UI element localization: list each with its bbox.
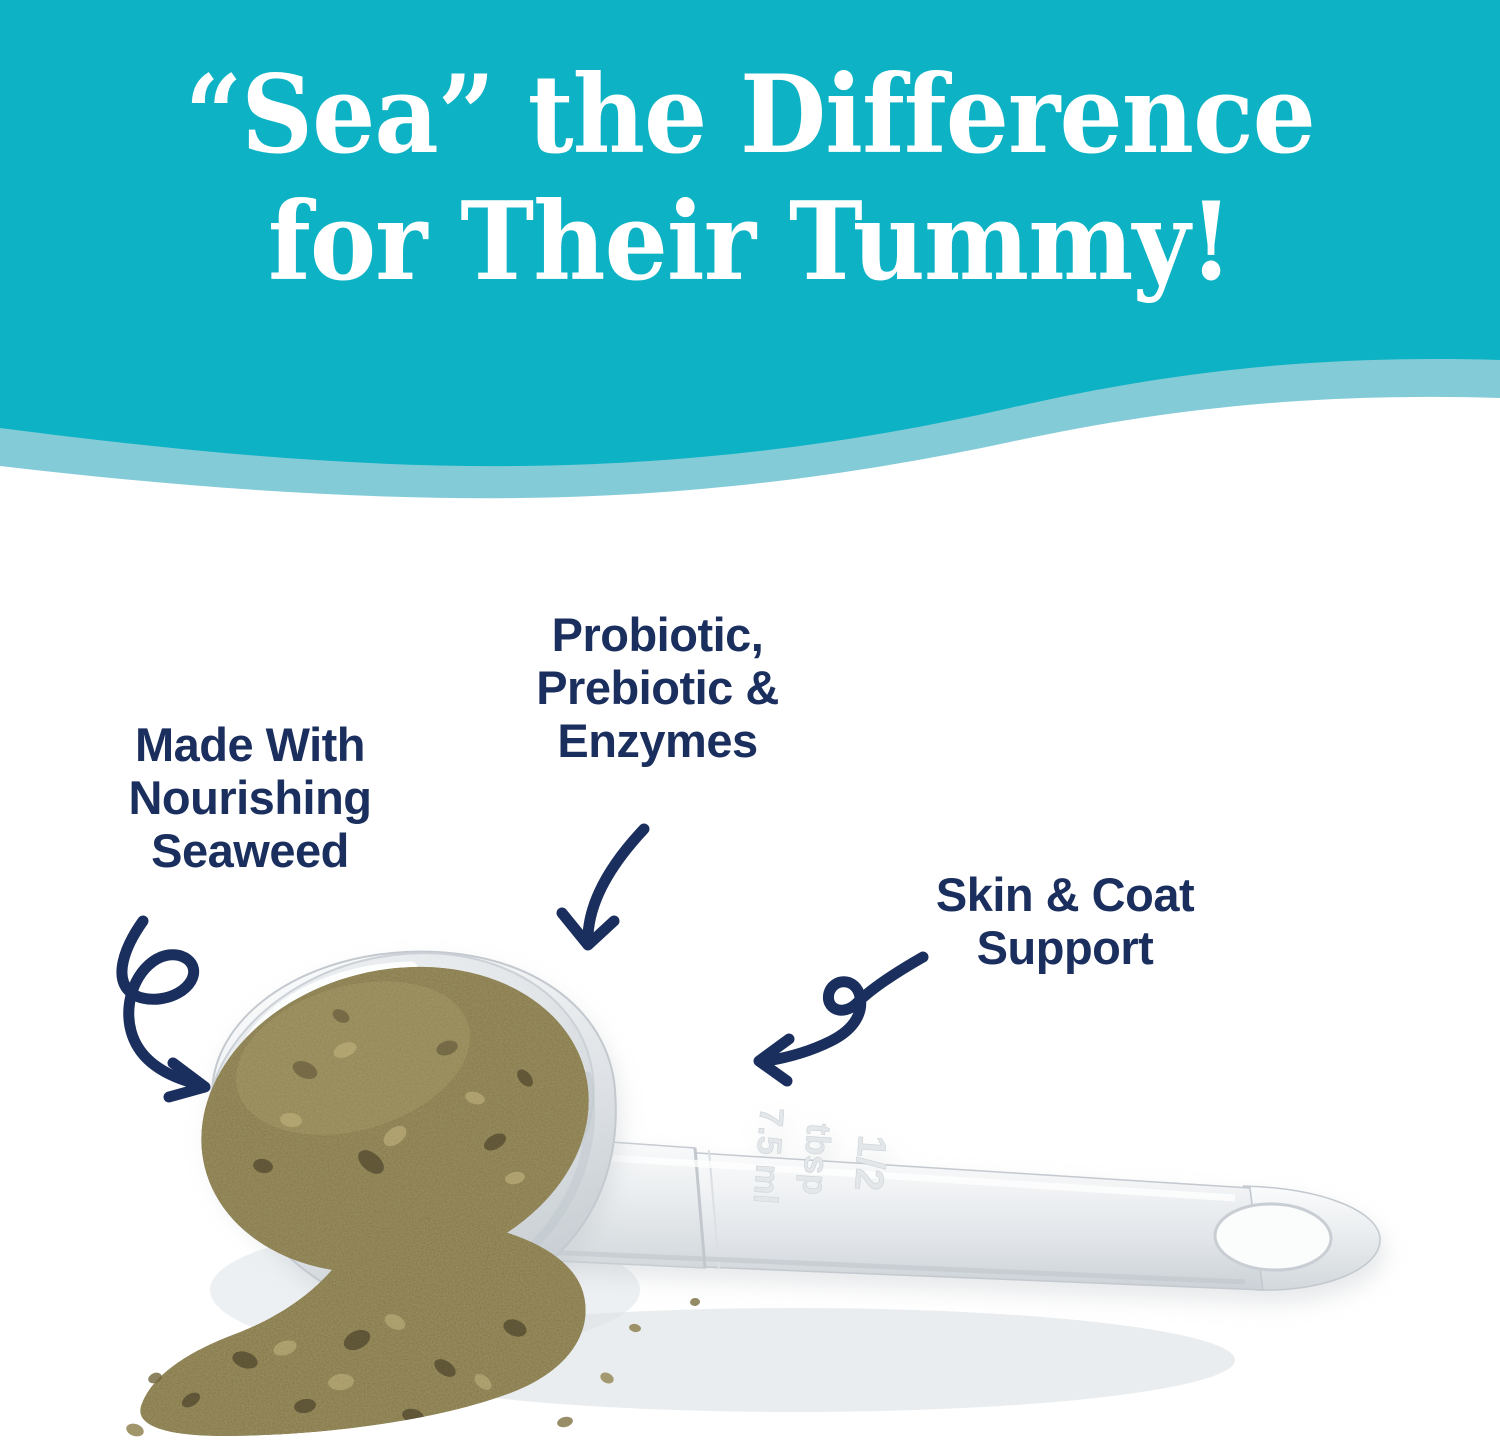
arrow-seaweed-stroke (122, 921, 201, 1085)
infographic-page: “Sea” the Difference for Their Tummy! (0, 0, 1500, 1449)
annotation-seaweed-line-3: Seaweed (60, 824, 440, 877)
annotation-probiotic-prebiotic-enzymes: Probiotic, Prebiotic & Enzymes (465, 608, 850, 767)
scoop-handle: 1/2 tbsp 7.5 ml (525, 1106, 1380, 1290)
headline-line-2: for Their Tummy! (60, 179, 1440, 306)
header-banner: “Sea” the Difference for Their Tummy! (0, 0, 1500, 500)
looped-left-arrow-icon (735, 945, 945, 1090)
emboss-unit-label: tbsp (795, 1122, 838, 1196)
annotation-seaweed-line-2: Nourishing (60, 771, 440, 824)
emboss-ml-label: 7.5 ml (746, 1106, 791, 1205)
curved-down-arrow-graphic (540, 795, 710, 965)
annotation-probiotic-line-1: Probiotic, (465, 608, 850, 661)
curly-loop-arrow-graphic (105, 905, 315, 1115)
emboss-size-label: 1/2 (846, 1134, 894, 1193)
arrow-skincoat-stroke (767, 957, 923, 1061)
annotation-skincoat-line-1: Skin & Coat (885, 868, 1245, 921)
curly-loop-arrow-icon (105, 905, 315, 1115)
looped-left-arrow-graphic (735, 945, 945, 1090)
annotation-made-with-nourishing-seaweed: Made With Nourishing Seaweed (60, 718, 440, 877)
annotation-probiotic-line-2: Prebiotic & (465, 661, 850, 714)
annotation-seaweed-line-1: Made With (60, 718, 440, 771)
page-title: “Sea” the Difference for Their Tummy! (60, 52, 1440, 307)
headline-line-1: “Sea” the Difference (60, 52, 1440, 179)
spilled-powder (140, 1218, 585, 1436)
annotation-probiotic-line-3: Enzymes (465, 714, 850, 767)
curved-down-arrow-icon (540, 795, 710, 965)
